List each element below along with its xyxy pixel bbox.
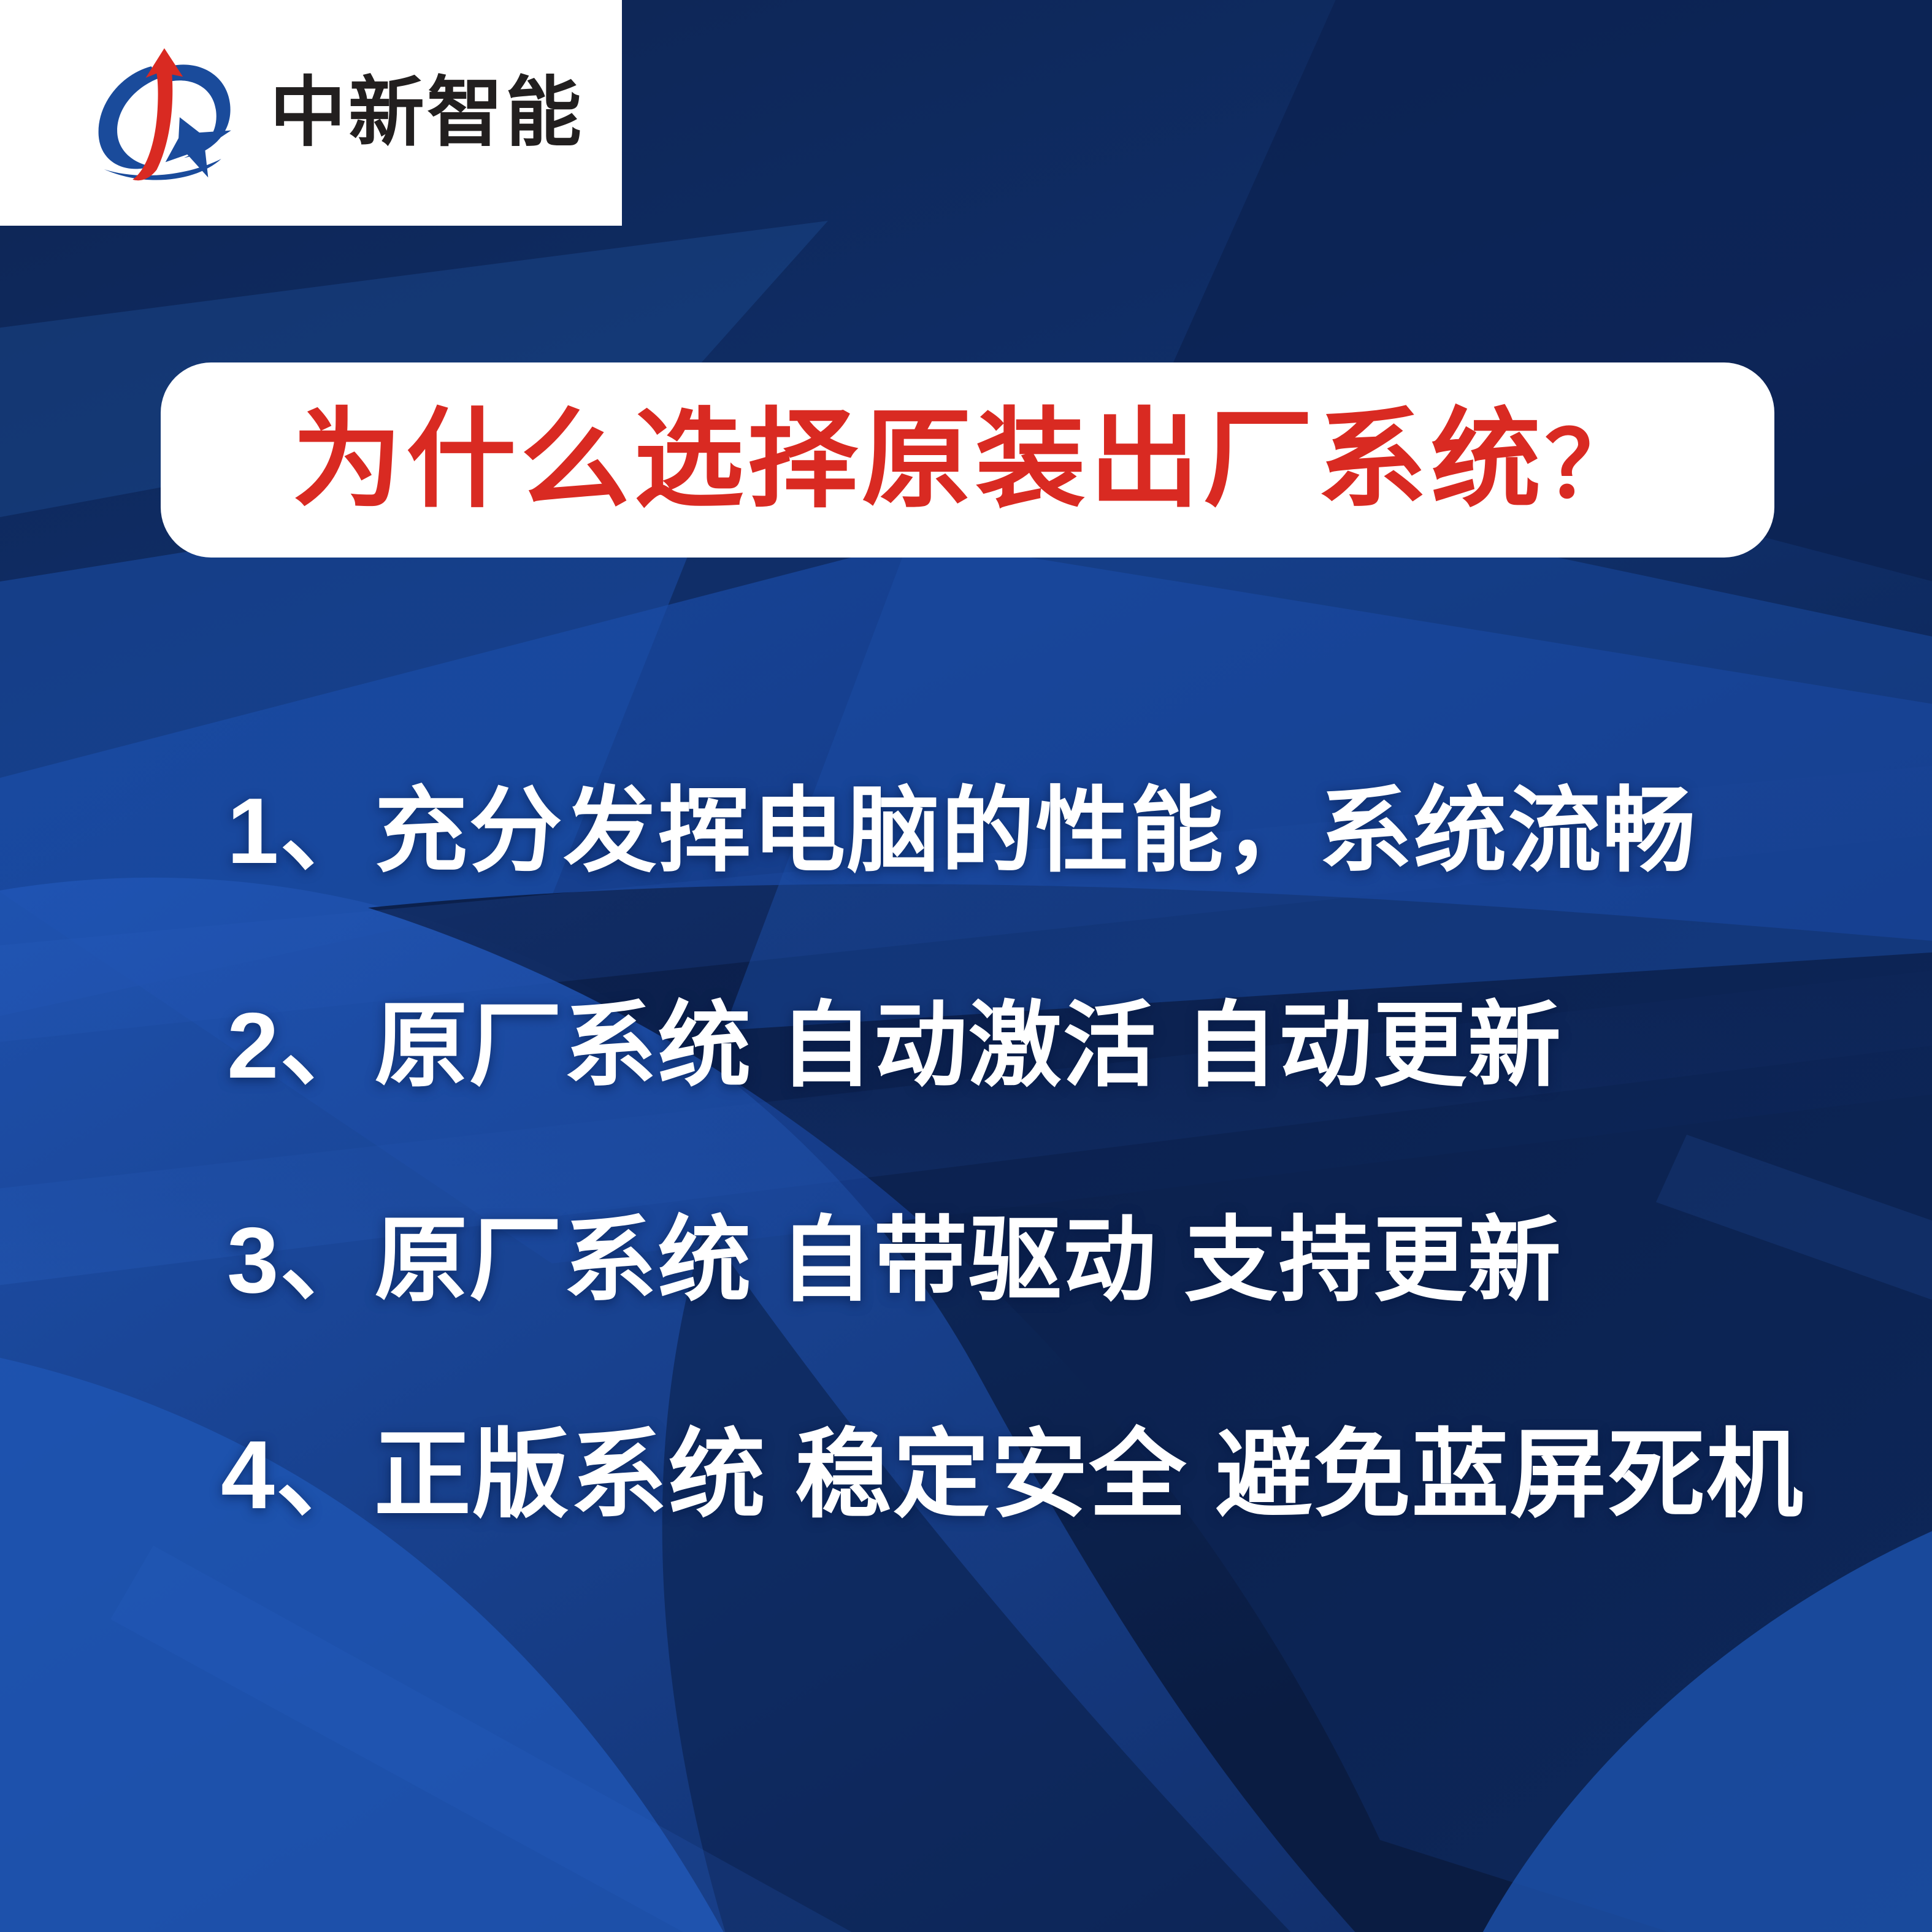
- benefits-list: 1、 充分发挥电脑的性能，系统流畅 2、 原厂系统 自动激活 自动更新 3、 原…: [0, 724, 1932, 1582]
- title-banner: 为什么选择原装出厂系统？: [161, 362, 1774, 558]
- list-item-index: 3、: [227, 1214, 375, 1307]
- list-item-index: 4、: [221, 1427, 374, 1524]
- page-title: 为什么选择原装出厂系统？: [293, 406, 1643, 514]
- list-item: 2、 原厂系统 自动激活 自动更新: [0, 938, 1932, 1153]
- page-title-question-mark: ？: [1545, 413, 1643, 516]
- list-item-label: 原厂系统 自动激活 自动更新: [375, 999, 1562, 1092]
- zhongxin-swoosh-star-logo-icon: [92, 36, 256, 190]
- list-item-index: 2、: [227, 999, 375, 1092]
- brand-logo-panel: 中新智能: [0, 0, 622, 226]
- list-item-index: 1、: [227, 784, 375, 878]
- list-item: 3、 原厂系统 自带驱动 支持更新: [0, 1153, 1932, 1368]
- list-item: 4、 正版系统 稳定安全 避免蓝屏死机: [0, 1368, 1932, 1582]
- list-item-label: 原厂系统 自带驱动 支持更新: [375, 1214, 1562, 1307]
- list-item: 1、 充分发挥电脑的性能，系统流畅: [0, 724, 1932, 938]
- brand-wordmark: 中新智能: [270, 75, 584, 151]
- list-item-label: 正版系统 稳定安全 避免蓝屏死机: [374, 1427, 1804, 1524]
- page-title-text: 为什么选择原装出厂系统: [293, 400, 1545, 520]
- list-item-label: 充分发挥电脑的性能，系统流畅: [375, 784, 1697, 878]
- promotional-poster: 中新智能 为什么选择原装出厂系统？ 1、 充分发挥电脑的性能，系统流畅 2、 原…: [0, 0, 1932, 1932]
